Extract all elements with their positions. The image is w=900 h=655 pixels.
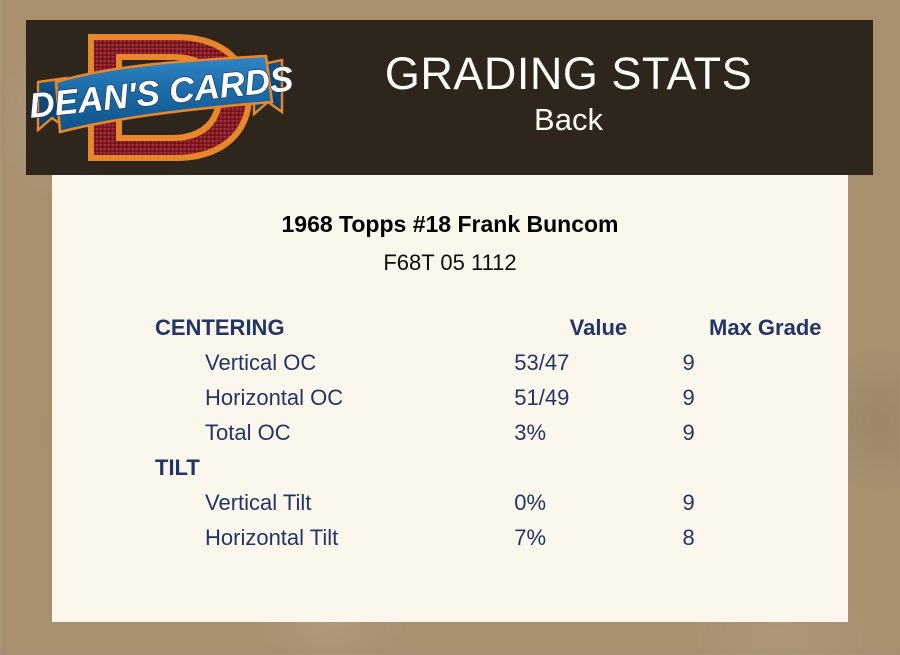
- stat-value: 53/47: [514, 345, 682, 380]
- stat-max-grade: 9: [683, 415, 848, 450]
- table-row: Horizontal Tilt 7% 8: [52, 520, 848, 555]
- card-title: 1968 Topps #18 Frank Buncom: [52, 211, 848, 238]
- section-header-tilt: TILT: [52, 450, 514, 485]
- section-header-spacer-value: [514, 450, 682, 485]
- stat-label: Horizontal OC: [52, 380, 514, 415]
- table-row: Vertical Tilt 0% 9: [52, 485, 848, 520]
- stat-max-grade: 9: [683, 485, 848, 520]
- page-title: GRADING STATS: [294, 50, 843, 97]
- stat-value: 3%: [514, 415, 682, 450]
- column-header-max-grade: Max Grade: [683, 310, 848, 345]
- stats-panel: 1968 Topps #18 Frank Buncom F68T 05 1112…: [52, 175, 848, 622]
- stat-max-grade: 8: [683, 520, 848, 555]
- stat-value: 7%: [514, 520, 682, 555]
- stat-value: 51/49: [514, 380, 682, 415]
- section-header-row-tilt: TILT: [52, 450, 848, 485]
- column-header-centering: CENTERING: [52, 310, 514, 345]
- card-serial-number: F68T 05 1112: [52, 250, 848, 276]
- stat-max-grade: 9: [683, 345, 848, 380]
- header-titles: GRADING STATS Back: [294, 50, 873, 141]
- stat-max-grade: 9: [683, 380, 848, 415]
- stat-value: 0%: [514, 485, 682, 520]
- stat-label: Vertical OC: [52, 345, 514, 380]
- stat-label: Total OC: [52, 415, 514, 450]
- logo-ribbon: DEAN'S CARDS: [27, 56, 294, 132]
- table-row: Horizontal OC 51/49 9: [52, 380, 848, 415]
- stat-label: Vertical Tilt: [52, 485, 514, 520]
- table-row: Vertical OC 53/47 9: [52, 345, 848, 380]
- section-header-spacer-grade: [683, 450, 848, 485]
- deans-cards-logo[interactable]: DEAN'S CARDS: [26, 20, 294, 175]
- table-row: Total OC 3% 9: [52, 415, 848, 450]
- stat-label: Horizontal Tilt: [52, 520, 514, 555]
- table-header-row: CENTERING Value Max Grade: [52, 310, 848, 345]
- column-header-value: Value: [514, 310, 682, 345]
- grading-stats-table: CENTERING Value Max Grade Vertical OC 53…: [52, 310, 848, 555]
- page-subtitle: Back: [294, 100, 843, 140]
- header-bar: DEAN'S CARDS GRADING STATS Back: [26, 20, 873, 175]
